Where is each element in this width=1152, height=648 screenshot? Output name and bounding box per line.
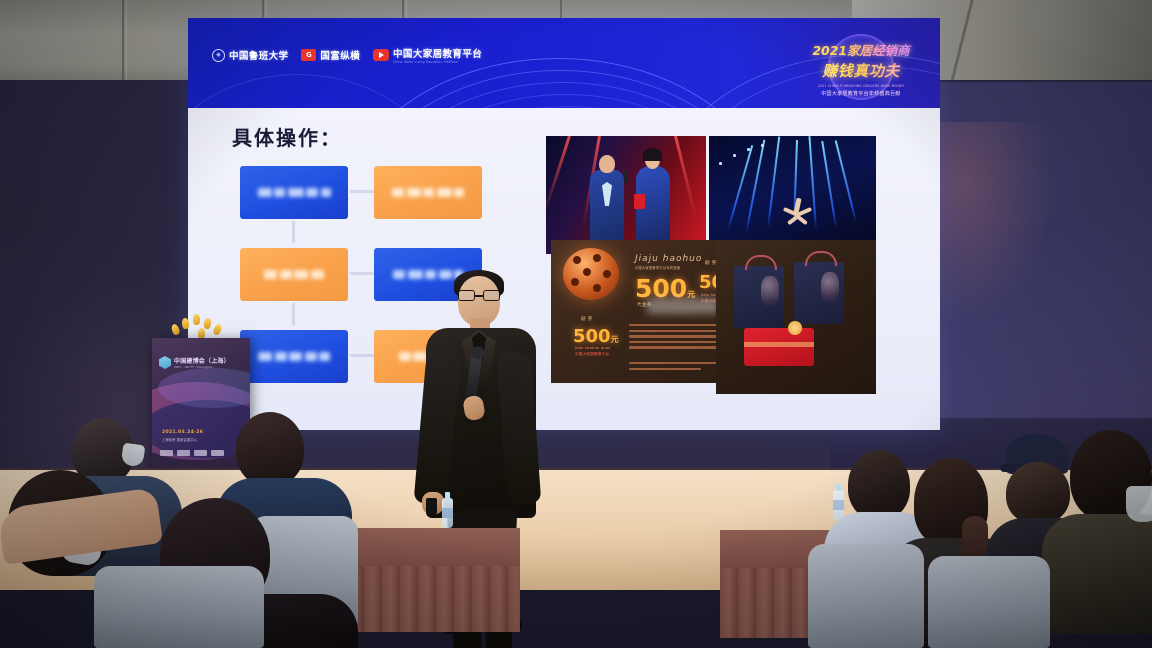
logo-lubanda: ◉ 中国鲁班大学 [212,48,288,62]
red-gift-box [744,328,814,366]
gift-bags-photo [716,240,876,394]
acrobat-figure [783,198,811,230]
acrobatic-dance-photo [709,136,876,254]
photo-collage: Jiaju haohuo 中国大家居教育平台年终盛典 剧 券 500元 代金券 … [546,136,876,394]
hexagon-logo-icon [159,356,171,369]
flow-box-3 [240,248,348,301]
voucher-label-bottom: 剧 券 [581,316,593,322]
redacted-smear [647,298,719,314]
audience-chair[interactable] [928,556,1050,648]
audience-chair[interactable] [808,544,924,648]
flow-box-5 [240,330,348,383]
podium-sponsor-row [160,450,224,456]
voucher-script-sub: 中国大家居教育平台年终盛典 [635,265,680,270]
flow-box-2 [374,166,482,219]
logo-education-platform: 中国大家居教育平台 China Home Living Education Pl… [373,46,482,64]
event-campaign-badge: 2021家居经销商 赚钱真功夫 2021 CHINA FURNISHING DE… [800,28,922,106]
water-bottle [833,490,844,520]
podium-location: 上海虹桥·国家会展中心 [162,437,197,442]
badge-line-2: 赚钱真功夫 [800,60,922,81]
gala-hosts-photo [546,136,706,254]
slide-body: 具体操作： [188,108,940,430]
slide-logo-row: ◉ 中国鲁班大学 G 国富纵横 中国大家居教育平台 China Home Liv… [212,46,482,64]
screenshot-root: ◉ 中国鲁班大学 G 国富纵横 中国大家居教育平台 China Home Liv… [0,0,1152,648]
logo-label-2: 国富纵横 [320,48,360,62]
slide-header-banner: ◉ 中国鲁班大学 G 国富纵横 中国大家居教育平台 China Home Liv… [188,18,940,108]
logo-label-1: 中国鲁班大学 [229,48,288,62]
gift-bag-1 [734,266,784,328]
flow-box-1 [240,166,348,219]
voucher-script-text: Jiaju haohuo [635,254,702,264]
red-square-icon: G [301,49,316,61]
eyeglasses-icon [458,290,500,302]
water-bottle [442,498,453,528]
badge-line-4: 中国大家居教育平台年终盛典巨献 [800,90,922,97]
audience-chair[interactable] [94,566,264,648]
podium-subtitle: CBD - IBCTF (Shanghai) [174,365,230,369]
circle-emblem-icon: ◉ [212,49,225,62]
logo-label-3: 中国大家居教育平台 [393,46,482,60]
presenter-clicker [426,498,437,514]
logo-guofuzongheng: G 国富纵横 [301,48,360,62]
podium-title: 中国建博会（上海） [174,356,230,365]
decorative-lantern-icon [563,248,619,300]
podium-logo: 中国建博会（上海） CBD - IBCTF (Shanghai) [159,356,230,369]
voucher-amount-3: 500元 [573,326,619,347]
gift-bag-2 [794,262,844,324]
badge-line-1: 2021家居经销商 [800,40,922,59]
slide-title: 具体操作： [232,122,342,151]
logo-sublabel-3: China Home Living Education Platform [393,60,478,64]
projection-screen: ◉ 中国鲁班大学 G 国富纵横 中国大家居教育平台 China Home Liv… [188,18,940,430]
red-play-icon [373,49,389,61]
podium-date: 2021.03.24-26 [162,430,203,435]
badge-line-3: 2021 CHINA FURNISHING DEALERS MAKE MONEY [800,84,922,88]
voucher-label-top: 剧 券 [705,260,717,266]
